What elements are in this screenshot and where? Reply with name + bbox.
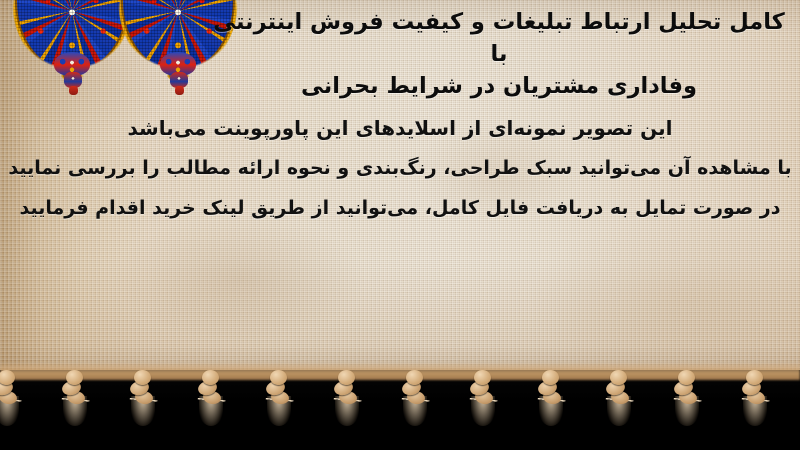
slide-text-layer: کامل تحلیل ارتباط تبلیغات و کیفیت فروش ا… xyxy=(0,0,800,376)
tassel-knot-upper xyxy=(474,370,491,385)
tassel-knot-upper xyxy=(406,370,423,385)
tassel-knot-upper xyxy=(134,370,151,385)
fringe-tassel xyxy=(126,366,160,438)
tassel-knot-upper xyxy=(678,370,695,385)
fringe-tassel xyxy=(330,366,364,438)
slide-canvas: کامل تحلیل ارتباط تبلیغات و کیفیت فروش ا… xyxy=(0,0,800,450)
tassel-knot-upper xyxy=(746,370,763,385)
slide-body-text: این تصویر نمونه‌ای از اسلایدهای این پاور… xyxy=(0,108,800,228)
body-line-1: این تصویر نمونه‌ای از اسلایدهای این پاور… xyxy=(0,108,800,148)
tassel-knot-upper xyxy=(66,370,83,385)
body-line-2: با مشاهده آن می‌توانید سبک طراحی، رنگ‌بن… xyxy=(0,148,800,188)
tassel-knot-upper xyxy=(338,370,355,385)
tassel-knot-upper xyxy=(0,370,15,385)
fringe-tassel xyxy=(262,366,296,438)
tassel-knot-upper xyxy=(270,370,287,385)
fringe-tassel xyxy=(466,366,500,438)
fringe-tassel xyxy=(398,366,432,438)
tassel-knot-upper xyxy=(542,370,559,385)
fringe-tassel xyxy=(58,366,92,438)
fringe-tassel xyxy=(194,366,228,438)
title-line-2: وفاداری مشتریان در شرایط بحرانی xyxy=(212,70,786,102)
fringe-tassel xyxy=(534,366,568,438)
page-title: کامل تحلیل ارتباط تبلیغات و کیفیت فروش ا… xyxy=(212,6,786,102)
body-line-3: در صورت تمایل به دریافت فایل کامل، می‌تو… xyxy=(0,188,800,228)
fringe-tassel xyxy=(0,366,24,438)
fringe-tassel xyxy=(670,366,704,438)
tassel-knot-upper xyxy=(610,370,627,385)
fringe-tassel xyxy=(602,366,636,438)
tassel-knot-upper xyxy=(202,370,219,385)
fringe-tassel xyxy=(738,366,772,438)
title-line-1: کامل تحلیل ارتباط تبلیغات و کیفیت فروش ا… xyxy=(212,6,786,70)
